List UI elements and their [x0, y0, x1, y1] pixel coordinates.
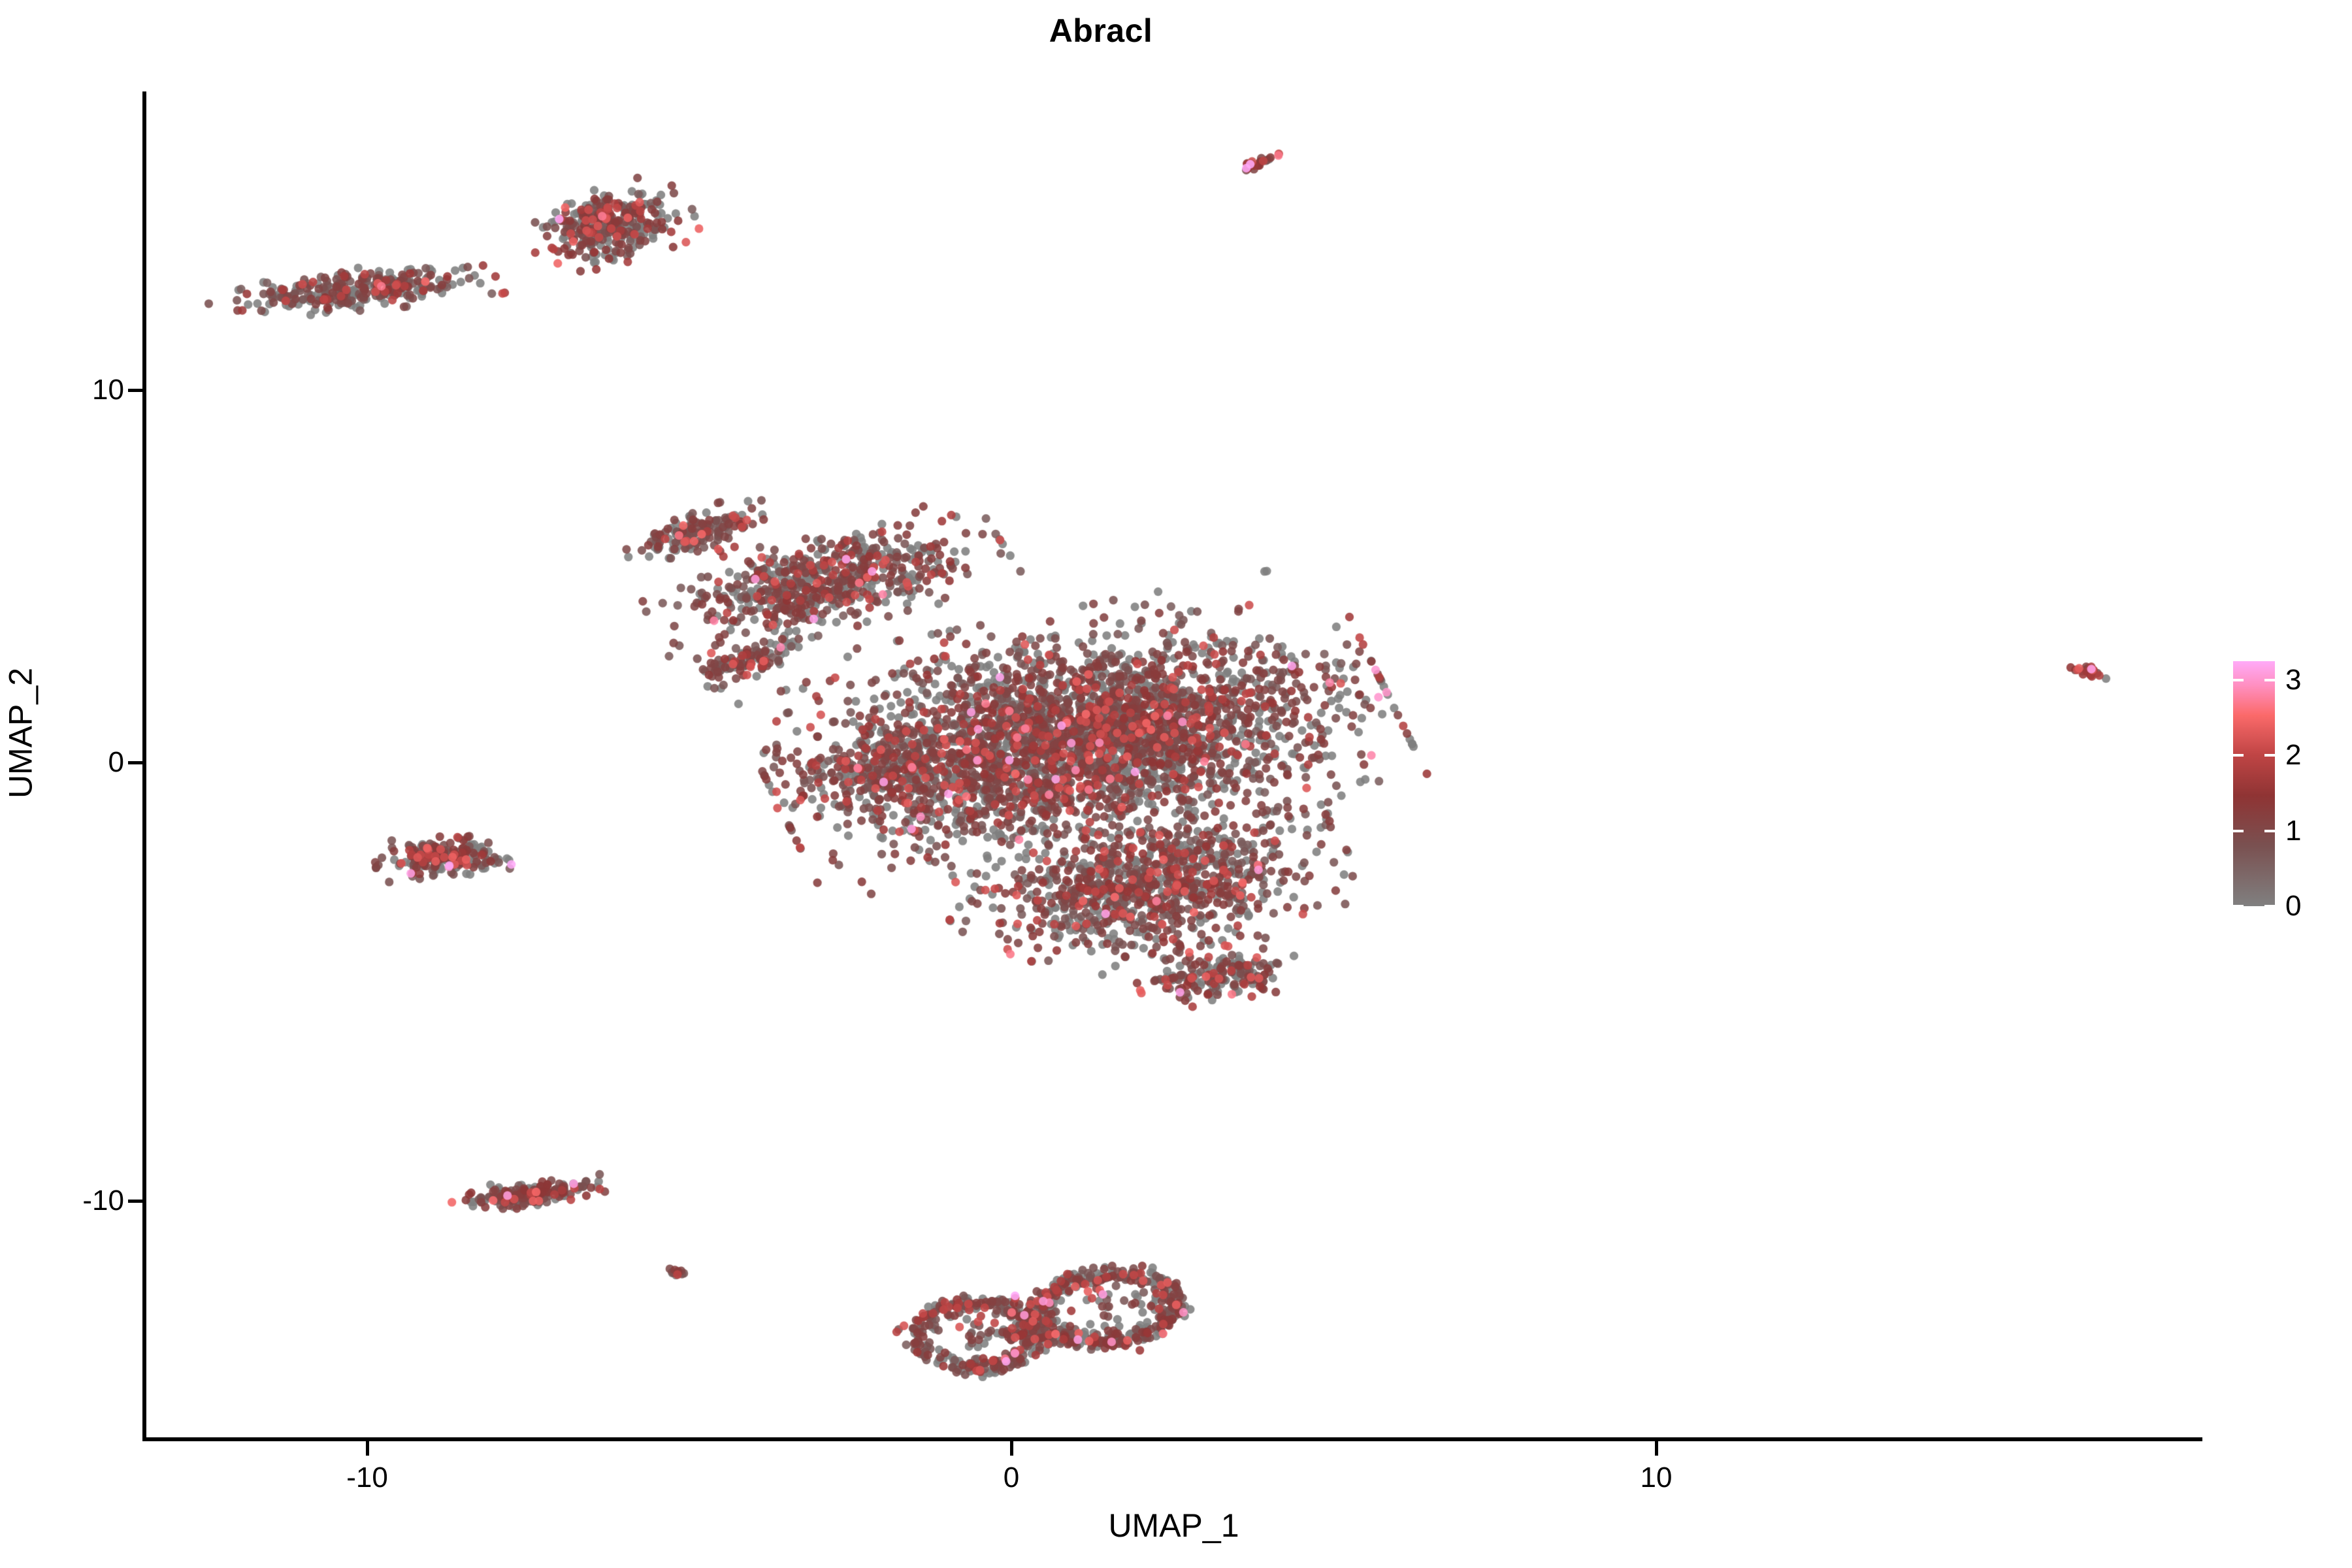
- feature-plot-root: Abracl -10010100-10 UMAP_1 UMAP_2 3210: [0, 0, 2352, 1568]
- x-axis-title: UMAP_1: [145, 1509, 2202, 1542]
- x-axis-line: [142, 1437, 2202, 1441]
- page-title: Abracl: [0, 14, 2202, 47]
- y-tick-label: 0: [108, 748, 124, 777]
- x-tick-label: -10: [302, 1463, 433, 1492]
- x-tick-mark: [366, 1441, 369, 1456]
- legend-gradient-bar: [2233, 661, 2275, 906]
- x-tick-label: 10: [1591, 1463, 1722, 1492]
- x-tick-mark: [1010, 1441, 1013, 1456]
- scatter-canvas: [145, 91, 2202, 1439]
- y-tick-mark: [128, 761, 142, 764]
- legend-tick-label: 1: [2285, 817, 2301, 845]
- legend-colorbar: 3210: [2233, 661, 2344, 906]
- y-axis-line: [142, 91, 146, 1441]
- y-tick-mark: [128, 389, 142, 392]
- legend-tick-label: 3: [2285, 666, 2301, 694]
- legend-tick-label: 2: [2285, 741, 2301, 770]
- y-tick-label: 10: [92, 376, 124, 404]
- y-tick-label: -10: [82, 1186, 124, 1215]
- legend-tick-label: 0: [2285, 892, 2301, 921]
- x-tick-mark: [1655, 1441, 1658, 1456]
- y-axis-title: UMAP_2: [5, 59, 37, 1407]
- y-tick-mark: [128, 1200, 142, 1203]
- plot-panel: [145, 91, 2202, 1439]
- x-tick-label: 0: [946, 1463, 1077, 1492]
